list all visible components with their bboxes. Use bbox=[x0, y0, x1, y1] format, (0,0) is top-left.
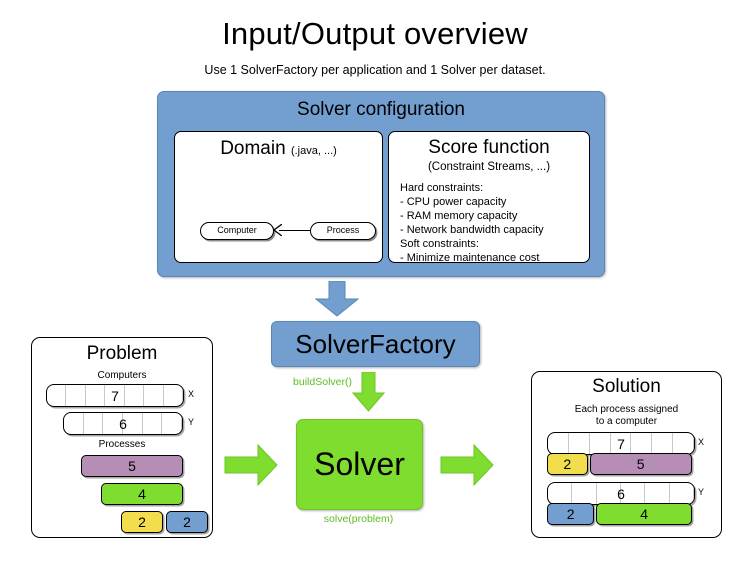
problem-computer-capacity-x: 7 bbox=[47, 385, 183, 406]
score-function-subtitle: (Constraint Streams, ...) bbox=[389, 161, 589, 173]
build-solver-label: buildSolver() bbox=[276, 376, 352, 388]
uml-computer-node: Computer bbox=[200, 222, 274, 240]
solution-process-block: 5 bbox=[590, 453, 692, 475]
green-down-arrow-icon bbox=[352, 372, 385, 412]
problem-process-block: 5 bbox=[81, 455, 183, 477]
solution-title: Solution bbox=[532, 376, 721, 398]
constraints-list: Hard constraints: - CPU power capacity -… bbox=[400, 181, 586, 266]
solver-configuration-title: Solver configuration bbox=[158, 99, 604, 121]
problem-computer-bar-y: 6 bbox=[63, 412, 183, 435]
uml-process-node: Process bbox=[310, 222, 376, 240]
solver-configuration-box: Solver configuration Domain (.java, ...)… bbox=[157, 91, 605, 277]
green-right-arrow-icon-input bbox=[224, 444, 278, 486]
problem-process-block: 2 bbox=[121, 511, 163, 533]
domain-title-suffix: (.java, ...) bbox=[291, 145, 337, 157]
problem-title: Problem bbox=[32, 343, 212, 365]
solution-process-block: 4 bbox=[596, 503, 691, 525]
uml-association-line bbox=[279, 230, 311, 231]
solution-assigned-row-x: 2 5 bbox=[547, 453, 692, 475]
solution-computer-bar-x: 7 bbox=[547, 432, 695, 455]
problem-processes-label: Processes bbox=[32, 439, 212, 450]
solve-problem-label: solve(problem) bbox=[296, 513, 421, 525]
domain-card: Domain (.java, ...) Computer Process bbox=[174, 131, 383, 263]
blue-down-arrow-icon bbox=[315, 281, 359, 317]
page-title: Input/Output overview bbox=[0, 16, 750, 52]
solution-computer-bar-y: 6 bbox=[547, 482, 695, 505]
solver-factory-box: SolverFactory bbox=[271, 321, 480, 367]
score-function-title: Score function bbox=[389, 137, 589, 159]
solution-process-block: 2 bbox=[547, 453, 588, 475]
green-right-arrow-icon-output bbox=[440, 444, 494, 486]
problem-computer-tag-x: X bbox=[188, 389, 194, 399]
domain-title: Domain (.java, ...) bbox=[175, 138, 382, 160]
problem-computers-label: Computers bbox=[32, 370, 212, 381]
solution-assigned-row-y: 2 4 bbox=[547, 503, 692, 525]
solution-subtitle: Each process assigned to a computer bbox=[532, 404, 721, 428]
solution-process-block: 2 bbox=[547, 503, 594, 525]
solver-box: Solver bbox=[296, 419, 423, 510]
diagram-canvas: Input/Output overview Use 1 SolverFactor… bbox=[0, 0, 750, 563]
uml-arrowhead-icon bbox=[273, 224, 282, 236]
problem-panel: Problem Computers 7 X 6 Y Processes 5 4 … bbox=[31, 337, 213, 538]
domain-title-main: Domain bbox=[220, 138, 285, 159]
solution-computer-capacity-y: 6 bbox=[548, 483, 694, 504]
page-subtitle: Use 1 SolverFactory per application and … bbox=[0, 63, 750, 77]
problem-process-block: 2 bbox=[166, 511, 208, 533]
score-function-card: Score function (Constraint Streams, ...)… bbox=[388, 131, 590, 263]
problem-process-block: 4 bbox=[101, 483, 183, 505]
problem-computer-capacity-y: 6 bbox=[64, 413, 182, 434]
solution-computer-tag-x: X bbox=[698, 437, 704, 447]
solution-computer-capacity-x: 7 bbox=[548, 433, 694, 454]
solution-panel: Solution Each process assigned to a comp… bbox=[531, 371, 722, 538]
problem-computer-tag-y: Y bbox=[188, 417, 194, 427]
problem-computer-bar-x: 7 bbox=[46, 384, 184, 407]
solution-computer-tag-y: Y bbox=[698, 487, 704, 497]
